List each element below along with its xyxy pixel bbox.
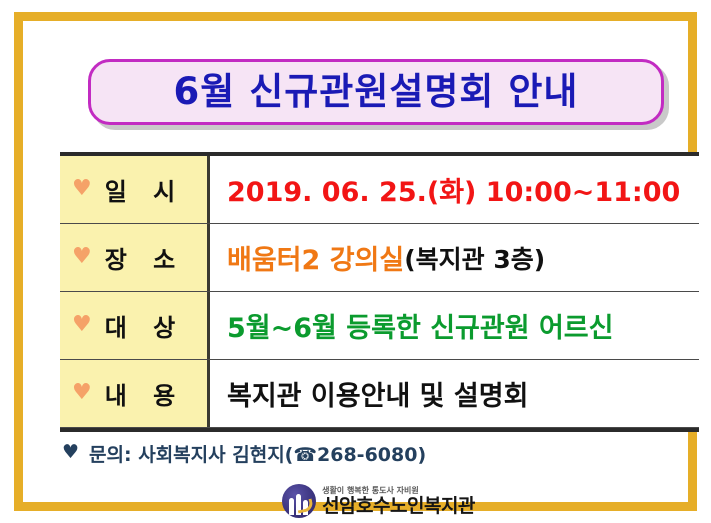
logo-name: 선암호수노인복지관 bbox=[322, 497, 475, 516]
heart-icon: ♥ bbox=[62, 443, 79, 462]
table-row-value: 배움터2 강의실 bbox=[227, 238, 404, 277]
logo-emblem-icon bbox=[282, 484, 316, 518]
table-row-value-cell: 배움터2 강의실(복지관 3층) bbox=[210, 224, 699, 291]
table-row: ♥ 내 용 복지관 이용안내 및 설명회 bbox=[60, 360, 699, 428]
contact-line: ♥ 문의: 사회복지사 김현지(☎268-6080) bbox=[62, 440, 426, 467]
table-row-label: 일 시 bbox=[105, 172, 185, 207]
table-row-label-cell: ♥ 장 소 bbox=[60, 224, 210, 291]
heart-icon: ♥ bbox=[72, 314, 92, 336]
table-row-label-cell: ♥ 대 상 bbox=[60, 292, 210, 359]
poster-content-area: 6월 신규관원설명회 안내 ♥ 일 시 2019. 06. 25.(화) 10:… bbox=[46, 42, 711, 523]
table-row-value-cell: 2019. 06. 25.(화) 10:00~11:00 bbox=[210, 156, 699, 223]
logo-text-block: 생활이 행복한 통도사 자비원 선암호수노인복지관 bbox=[322, 487, 475, 516]
table-row-value-cell: 5월~6월 등록한 신규관원 어르신 bbox=[210, 292, 699, 359]
table-row: ♥ 일 시 2019. 06. 25.(화) 10:00~11:00 bbox=[60, 156, 699, 224]
table-row-label: 대 상 bbox=[105, 308, 185, 343]
poster-border-frame: 6월 신규관원설명회 안내 ♥ 일 시 2019. 06. 25.(화) 10:… bbox=[14, 12, 697, 511]
table-row-value-cell: 복지관 이용안내 및 설명회 bbox=[210, 360, 699, 427]
table-row-value: 복지관 이용안내 및 설명회 bbox=[227, 374, 528, 413]
organization-logo: 생활이 행복한 통도사 자비원 선암호수노인복지관 bbox=[46, 484, 711, 518]
title-banner-box: 6월 신규관원설명회 안내 bbox=[88, 59, 664, 125]
heart-icon: ♥ bbox=[72, 246, 92, 268]
table-row-value: 5월~6월 등록한 신규관원 어르신 bbox=[227, 306, 613, 345]
heart-icon: ♥ bbox=[72, 178, 92, 200]
page-title: 6월 신규관원설명회 안내 bbox=[174, 73, 579, 110]
table-row-label-cell: ♥ 내 용 bbox=[60, 360, 210, 427]
logo-tagline: 생활이 행복한 통도사 자비원 bbox=[322, 487, 475, 495]
poster-root: 6월 신규관원설명회 안내 ♥ 일 시 2019. 06. 25.(화) 10:… bbox=[0, 0, 711, 523]
table-row: ♥ 장 소 배움터2 강의실(복지관 3층) bbox=[60, 224, 699, 292]
table-row: ♥ 대 상 5월~6월 등록한 신규관원 어르신 bbox=[60, 292, 699, 360]
table-row-value: 2019. 06. 25.(화) 10:00~11:00 bbox=[227, 170, 680, 209]
contact-text: 문의: 사회복지사 김현지(☎268-6080) bbox=[89, 440, 426, 467]
heart-icon: ♥ bbox=[72, 382, 92, 404]
table-row-label: 내 용 bbox=[105, 376, 185, 411]
table-row-label-cell: ♥ 일 시 bbox=[60, 156, 210, 223]
title-banner: 6월 신규관원설명회 안내 bbox=[88, 59, 664, 125]
info-table: ♥ 일 시 2019. 06. 25.(화) 10:00~11:00 ♥ 장 소… bbox=[60, 152, 699, 432]
table-row-label: 장 소 bbox=[105, 240, 185, 275]
table-row-value-suffix: (복지관 3층) bbox=[404, 240, 545, 276]
